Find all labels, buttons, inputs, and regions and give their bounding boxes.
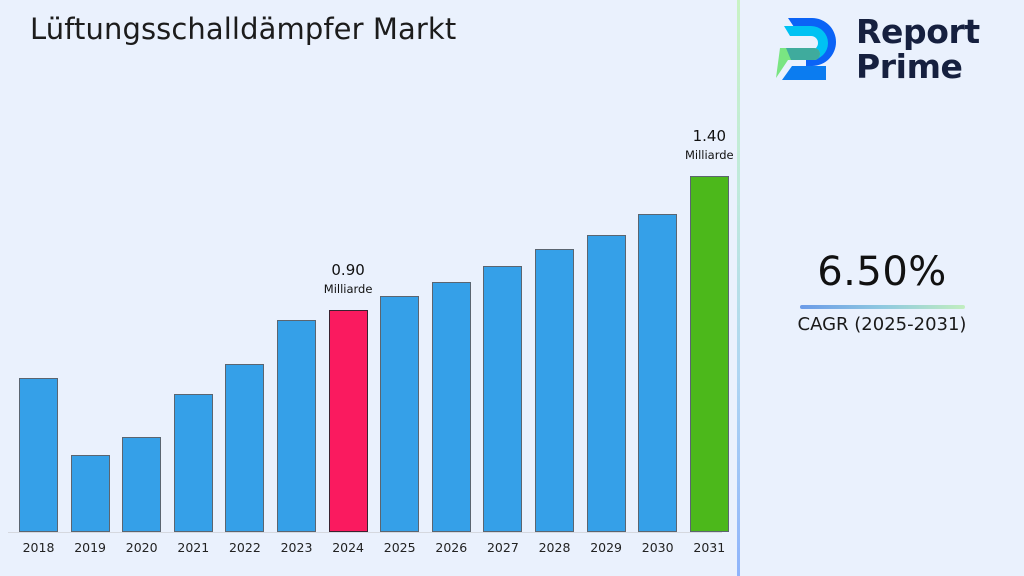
bar-2019[interactable]	[71, 455, 110, 532]
x-axis-label-2028: 2028	[525, 540, 584, 555]
bar-2031[interactable]	[690, 176, 729, 532]
x-axis-label-2019: 2019	[61, 540, 120, 555]
bar-value-number-2024: 0.90	[294, 263, 403, 278]
bar-2023[interactable]	[277, 320, 316, 532]
bar-2028[interactable]	[535, 249, 574, 532]
screenshot-canvas: Lüftungsschalldämpfer Markt 201820192020…	[0, 0, 1024, 576]
x-axis-label-2025: 2025	[370, 540, 429, 555]
bar-2018[interactable]	[19, 378, 58, 532]
x-axis-label-2018: 2018	[9, 540, 68, 555]
bar-2026[interactable]	[432, 282, 471, 532]
brand-wordmark: Report Prime	[856, 15, 980, 84]
cagr-label: CAGR (2025-2031)	[740, 315, 1024, 335]
bar-2030[interactable]	[638, 214, 677, 532]
cagr-block: 6.50% CAGR (2025-2031)	[740, 252, 1024, 335]
bar-2020[interactable]	[122, 437, 161, 532]
brand-name-line2: Prime	[856, 50, 980, 85]
x-axis-label-2023: 2023	[267, 540, 326, 555]
x-axis-label-2029: 2029	[577, 540, 636, 555]
x-axis-label-2024: 2024	[319, 540, 378, 555]
bar-2022[interactable]	[225, 364, 264, 532]
cagr-divider-rule	[800, 305, 965, 309]
x-axis-label-2027: 2027	[473, 540, 532, 555]
report-prime-r-logo-icon	[770, 12, 842, 88]
cagr-value: 6.50%	[740, 252, 1024, 292]
bar-value-unit-2024: Milliarde	[294, 284, 403, 296]
bar-2027[interactable]	[483, 266, 522, 532]
bar-2025[interactable]	[380, 296, 419, 532]
x-axis-label-2021: 2021	[164, 540, 223, 555]
x-axis-label-2030: 2030	[628, 540, 687, 555]
brand-panel: Report Prime 6.50% CAGR (2025-2031)	[740, 0, 1024, 576]
bar-2024[interactable]	[329, 310, 368, 532]
x-axis-label-2022: 2022	[215, 540, 274, 555]
chart-panel: Lüftungsschalldämpfer Markt 201820192020…	[0, 0, 738, 576]
x-axis-line	[8, 532, 722, 533]
bar-chart-plot: 2018201920202021202220232024202520262027…	[0, 0, 738, 576]
x-axis-label-2031: 2031	[680, 540, 739, 555]
bar-2021[interactable]	[174, 394, 213, 532]
bar-value-annotation-2024: 0.90Milliarde	[294, 263, 403, 296]
x-axis-label-2020: 2020	[112, 540, 171, 555]
brand-name-line1: Report	[856, 15, 980, 50]
brand-logo: Report Prime	[770, 12, 980, 88]
x-axis-label-2026: 2026	[422, 540, 481, 555]
bar-2029[interactable]	[587, 235, 626, 532]
